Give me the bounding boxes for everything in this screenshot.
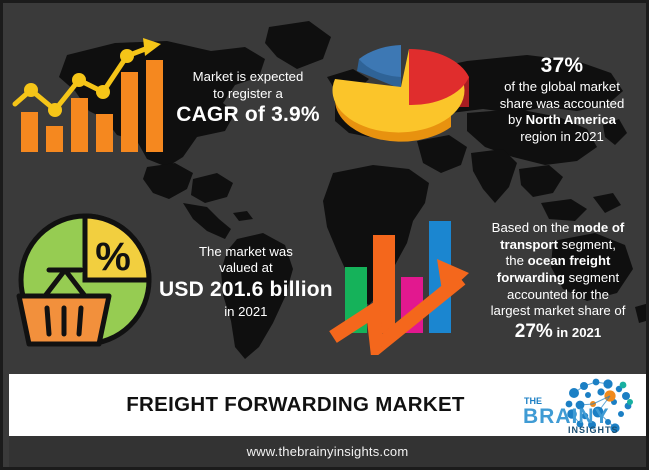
mot-line-3: the ocean freight <box>469 253 647 270</box>
panel-market-value: % The market was valued at USD 201.6 bil… <box>9 193 327 371</box>
url-bar: www.thebrainyinsights.com <box>9 436 646 467</box>
brainy-insights-logo[interactable]: THE BRAINY INSIGHTS <box>522 376 640 434</box>
mot-line-2: transport segment, <box>469 237 647 254</box>
regional-share-value: 37% <box>477 53 647 79</box>
cagr-value: CAGR of 3.9% <box>169 102 327 128</box>
mot-line-7: 27% in 2021 <box>469 320 647 344</box>
cagr-text-block: Market is expected to register a CAGR of… <box>169 69 327 129</box>
region-emphasis: North America <box>526 112 616 127</box>
mot-line-4: forwarding segment <box>469 270 647 287</box>
panel-mode-of-transport: Based on the mode of transport segment, … <box>329 193 647 371</box>
logo-line-3: INSIGHTS <box>568 425 619 434</box>
panel-cagr: Market is expected to register a CAGR of… <box>9 9 327 189</box>
mot-line-1: Based on the mode of <box>469 220 647 237</box>
infographic-canvas: Market is expected to register a CAGR of… <box>0 0 649 470</box>
page-title: FREIGHT FORWARDING MARKET <box>9 393 522 417</box>
mot-line-6: largest market share of <box>469 303 647 320</box>
bar-chart-trend-icon <box>9 34 169 164</box>
mode-of-transport-text-block: Based on the mode of transport segment, … <box>469 220 647 344</box>
panel-regional-share: 37% of the global market share was accou… <box>329 9 647 189</box>
growth-bars-arrow-icon <box>329 205 469 360</box>
cagr-line-2: to register a <box>169 86 327 103</box>
pie-chart-3d-icon <box>329 27 477 172</box>
regional-share-line-3: share was accounted <box>477 96 647 113</box>
cagr-line-1: Market is expected <box>169 69 327 86</box>
percent-glyph: % <box>95 235 131 279</box>
market-value-text-block: The market was valued at USD 201.6 billi… <box>159 244 333 320</box>
regional-share-text-block: 37% of the global market share was accou… <box>477 53 647 146</box>
website-url[interactable]: www.thebrainyinsights.com <box>247 444 409 459</box>
market-value-line-2: valued at <box>159 260 333 277</box>
regional-share-line-5: region in 2021 <box>477 129 647 146</box>
title-bar: FREIGHT FORWARDING MARKET <box>9 374 646 436</box>
mot-line-5: accounted for the <box>469 287 647 304</box>
market-value-line-1: The market was <box>159 244 333 261</box>
pie-basket-icon: % <box>9 204 159 361</box>
regional-share-line-2: of the global market <box>477 79 647 96</box>
market-value-amount: USD 201.6 billion <box>159 277 333 303</box>
market-value-year: in 2021 <box>159 304 333 321</box>
regional-share-line-4: by North America <box>477 112 647 129</box>
